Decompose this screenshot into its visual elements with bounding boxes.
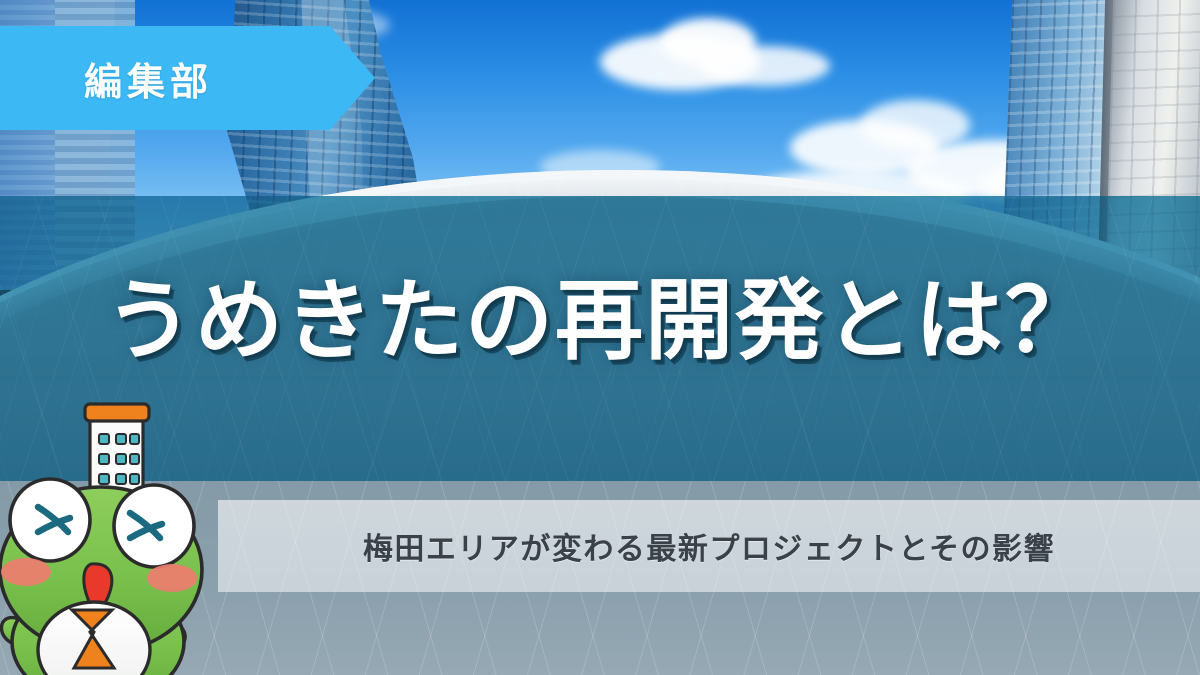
- mascot-eye-left: [10, 479, 90, 561]
- mascot-frog: [0, 392, 226, 675]
- mascot-cheek-right: [147, 564, 197, 592]
- subtitle-bar: 梅田エリアが変わる最新プロジェクトとその影響: [218, 500, 1200, 592]
- subtitle-text: 梅田エリアが変わる最新プロジェクトとその影響: [363, 524, 1055, 568]
- thumbnail-canvas: 編集部 うめきたの再開発とは？ 梅田エリアが変わる最新プロジェクトとその影響: [0, 0, 1200, 675]
- mascot-cheek-left: [1, 558, 51, 586]
- cloud: [700, 46, 830, 86]
- page-title: うめきたの再開発とは？: [0, 272, 1200, 371]
- category-ribbon-badge[interactable]: 編集部: [0, 26, 375, 130]
- category-ribbon-label: 編集部: [84, 51, 213, 106]
- cloud: [860, 100, 970, 150]
